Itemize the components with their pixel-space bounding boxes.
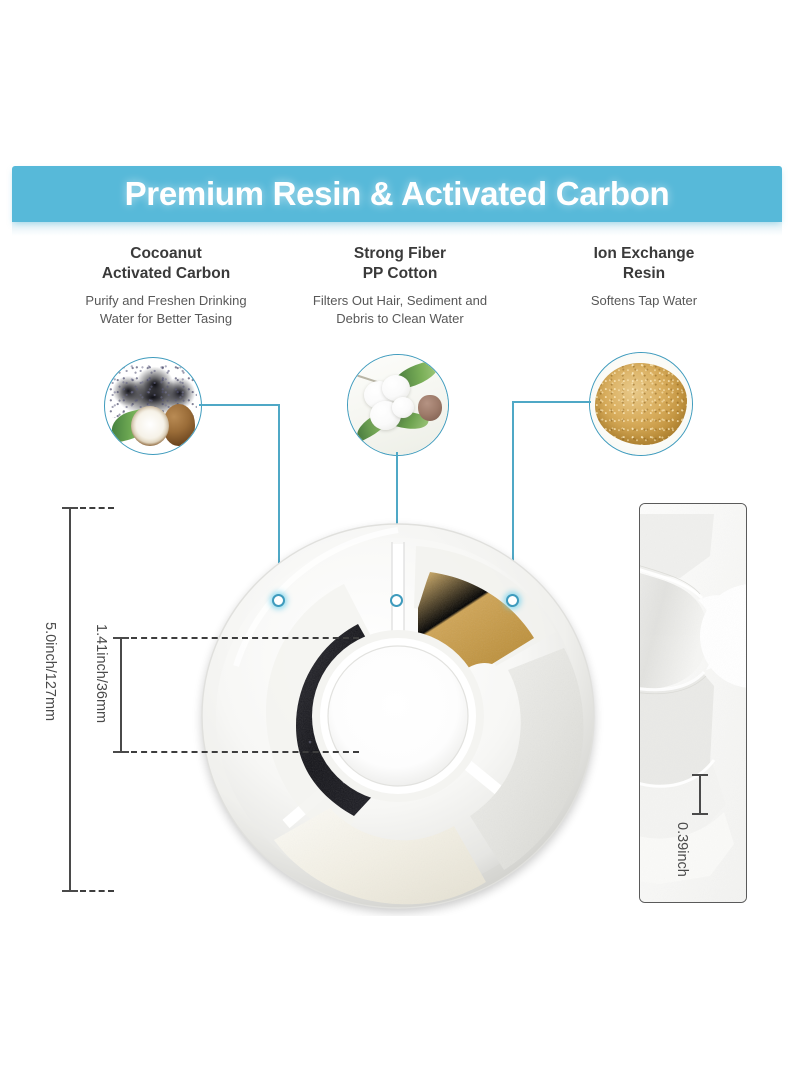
segment-height-extension-bottom — [131, 751, 359, 753]
segment-height-dimension-line — [120, 638, 122, 752]
header-banner: Premium Resin & Activated Carbon — [12, 166, 782, 222]
thickness-dimension-line — [699, 775, 701, 815]
feature-column-activated-carbon: Cocoanut Activated Carbon Purify and Fre… — [62, 244, 270, 329]
diameter-label: 5.0inch/127mm — [42, 622, 58, 721]
segment-height-cap-top — [113, 637, 129, 639]
banner-shadow-fade — [12, 222, 782, 236]
connector-line-resin — [512, 401, 591, 403]
connector-line-carbon — [199, 404, 280, 406]
segment-height-extension-top — [131, 637, 359, 639]
filter-disc-illustration — [178, 516, 618, 916]
thickness-label: 0.39inch — [674, 822, 690, 877]
cotton-boll-photo-icon — [347, 354, 449, 456]
ion-exchange-resin-powder-photo-icon — [589, 352, 693, 456]
thickness-closeup-panel — [639, 503, 747, 903]
pointer-marker-cotton — [390, 594, 403, 607]
feature-column-ion-exchange-resin: Ion Exchange Resin Softens Tap Water — [540, 244, 748, 310]
activated-carbon-coconut-photo-icon — [104, 357, 202, 455]
feature-title: Ion Exchange Resin — [540, 244, 748, 285]
diameter-cap-top — [62, 507, 78, 509]
pointer-marker-resin — [506, 594, 519, 607]
banner-title: Premium Resin & Activated Carbon — [12, 175, 782, 213]
segment-height-label: 1.41inch/36mm — [93, 624, 109, 723]
feature-description: Filters Out Hair, Sediment and Debris to… — [296, 292, 504, 329]
feature-column-pp-cotton: Strong Fiber PP Cotton Filters Out Hair,… — [296, 244, 504, 329]
feature-title: Cocoanut Activated Carbon — [62, 244, 270, 285]
segment-height-cap-bottom — [113, 751, 129, 753]
diameter-extension-bottom — [80, 890, 114, 892]
diameter-dimension-line — [69, 508, 71, 892]
thickness-cap-bottom — [692, 813, 708, 815]
pointer-marker-carbon — [272, 594, 285, 607]
thickness-cap-top — [692, 774, 708, 776]
feature-description: Softens Tap Water — [540, 292, 748, 310]
feature-title: Strong Fiber PP Cotton — [296, 244, 504, 285]
product-infographic: Premium Resin & Activated Carbon Cocoanu… — [0, 0, 790, 1078]
diameter-extension-top — [80, 507, 114, 509]
feature-description: Purify and Freshen Drinking Water for Be… — [62, 292, 270, 329]
diameter-cap-bottom — [62, 890, 78, 892]
